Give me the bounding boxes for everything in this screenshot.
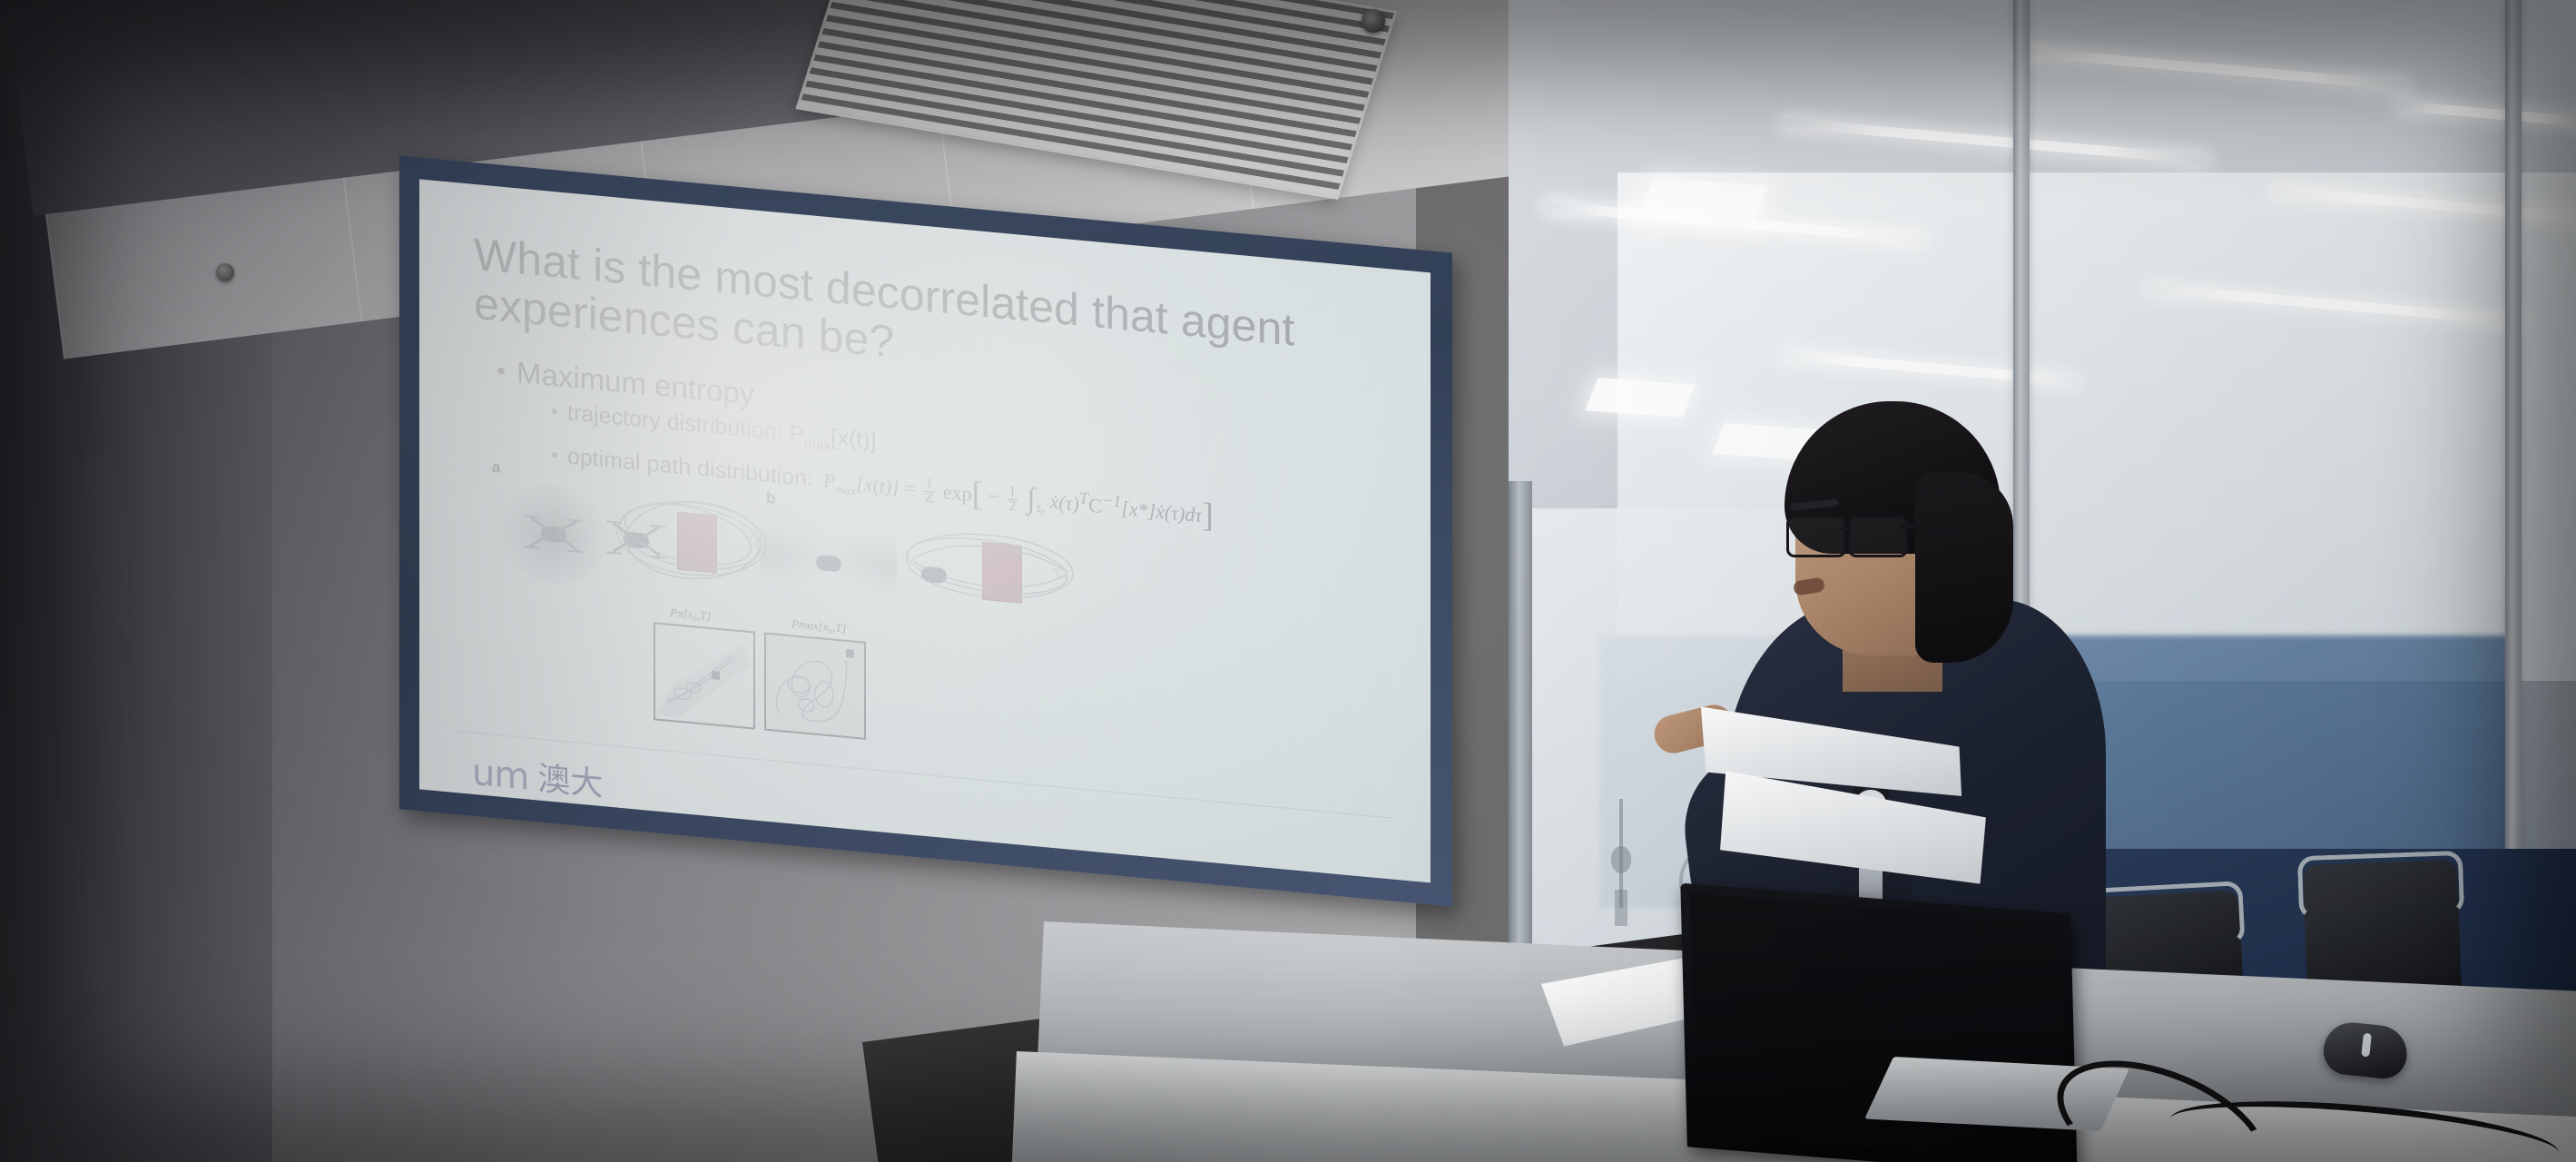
screen-surface: What is the most decorrelated that agent…: [419, 179, 1431, 882]
subscript-max: max: [804, 436, 831, 454]
ceiling-light-bar: [1781, 118, 2207, 165]
university-logo: um 澳大: [472, 756, 603, 801]
eyeglasses-icon: [1786, 516, 1915, 556]
policy-trajectory: [655, 624, 750, 724]
drone-rotor: [567, 549, 583, 553]
drone-arm: [529, 516, 549, 532]
presenter-hair-side: [1915, 472, 2013, 663]
ceiling-light-bar: [2017, 46, 2406, 90]
mini-panel-policy: [654, 622, 755, 729]
mini-panel-maxent: [764, 633, 866, 740]
logo-chinese-name: 澳大: [537, 763, 603, 801]
bullet-dot-icon: [552, 409, 557, 415]
eyeglass-lens-right: [1848, 516, 1908, 557]
slide-content: What is the most decorrelated that agent…: [419, 179, 1431, 882]
fire-sprinkler-icon: [1362, 9, 1385, 33]
drone-arm: [557, 520, 577, 533]
goal-marker: [712, 671, 720, 680]
ceiling-light-bar: [2398, 101, 2576, 127]
mini-panel-caption-right: Pmax[x₀,T]: [791, 616, 847, 636]
drone-arm: [557, 535, 577, 551]
office-chair-rim: [2297, 851, 2464, 920]
logo-mark: um: [472, 756, 528, 794]
eyeglass-bridge: [1840, 527, 1851, 530]
presentation-scene: What is the most decorrelated that agent…: [0, 0, 2576, 1162]
drone-rotor: [524, 546, 539, 549]
ceiling-light-panel: [1638, 178, 1768, 224]
mini-panel-caption-left: Pπ[x₀,T]: [670, 606, 711, 624]
figure-panel-a-label: a: [492, 458, 500, 478]
projection-screen: What is the most decorrelated that agent…: [399, 155, 1452, 906]
goal-marker: [846, 649, 854, 658]
bullet-dot-icon: [497, 367, 505, 375]
quadrotor-icon: [526, 510, 582, 557]
drone-body: [816, 555, 841, 573]
fire-sprinkler-icon-secondary: [216, 263, 234, 281]
eyeglass-lens-left: [1786, 516, 1846, 557]
bullet-dot-icon: [552, 452, 557, 458]
quadrotor-icon: [801, 539, 857, 586]
